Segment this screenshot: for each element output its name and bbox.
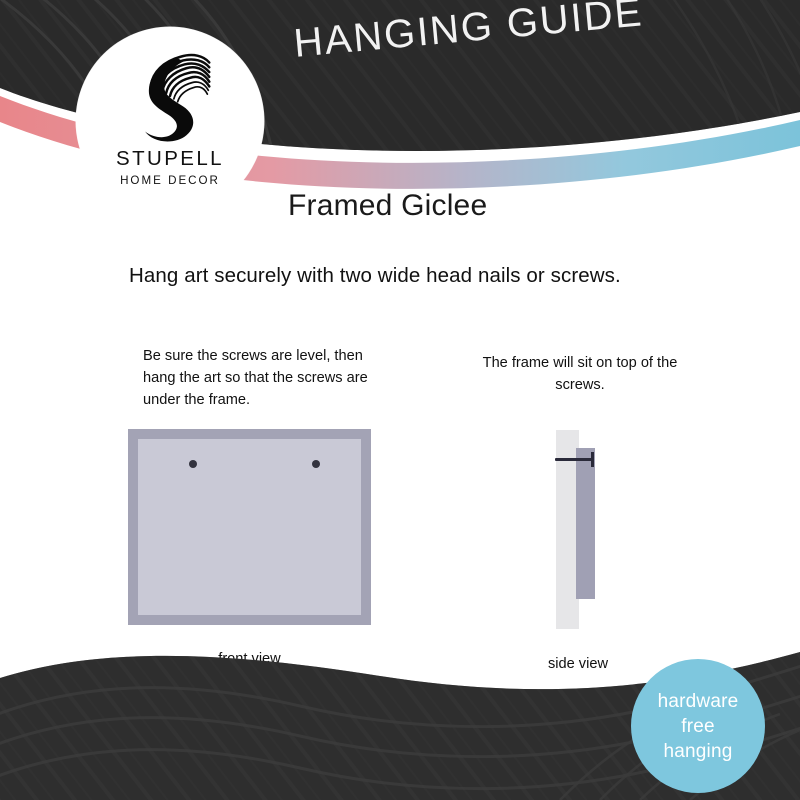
hanging-guide-page: HANGING GUIDE STUPELL HOME DECOR Framed … — [0, 0, 800, 800]
nail-shaft-icon — [555, 458, 593, 461]
product-type-heading: Framed Giclee — [288, 189, 487, 223]
brand-logo-badge: STUPELL HOME DECOR — [76, 27, 264, 215]
picture-frame-border — [128, 429, 371, 625]
stupell-swoosh-icon — [122, 51, 218, 143]
badge-line-1: hardware — [658, 689, 739, 714]
screw-dot-right — [312, 460, 320, 468]
side-view-diagram — [540, 425, 660, 640]
side-view-caption: The frame will sit on top of the screws. — [470, 352, 690, 396]
picture-frame-interior — [138, 439, 361, 615]
badge-line-2: free — [681, 714, 715, 739]
nail-head-icon — [591, 452, 594, 467]
front-view-caption: Be sure the screws are level, then hang … — [143, 345, 393, 411]
hardware-free-badge: hardware free hanging — [631, 659, 765, 793]
front-view-diagram — [128, 429, 371, 625]
lead-instruction: Hang art securely with two wide head nai… — [129, 264, 621, 288]
logo-brand-name: STUPELL — [116, 147, 224, 171]
frame-profile-bar — [576, 448, 595, 599]
screw-dot-left — [189, 460, 197, 468]
logo-brand-subtitle: HOME DECOR — [120, 174, 220, 187]
badge-line-3: hanging — [663, 739, 732, 764]
